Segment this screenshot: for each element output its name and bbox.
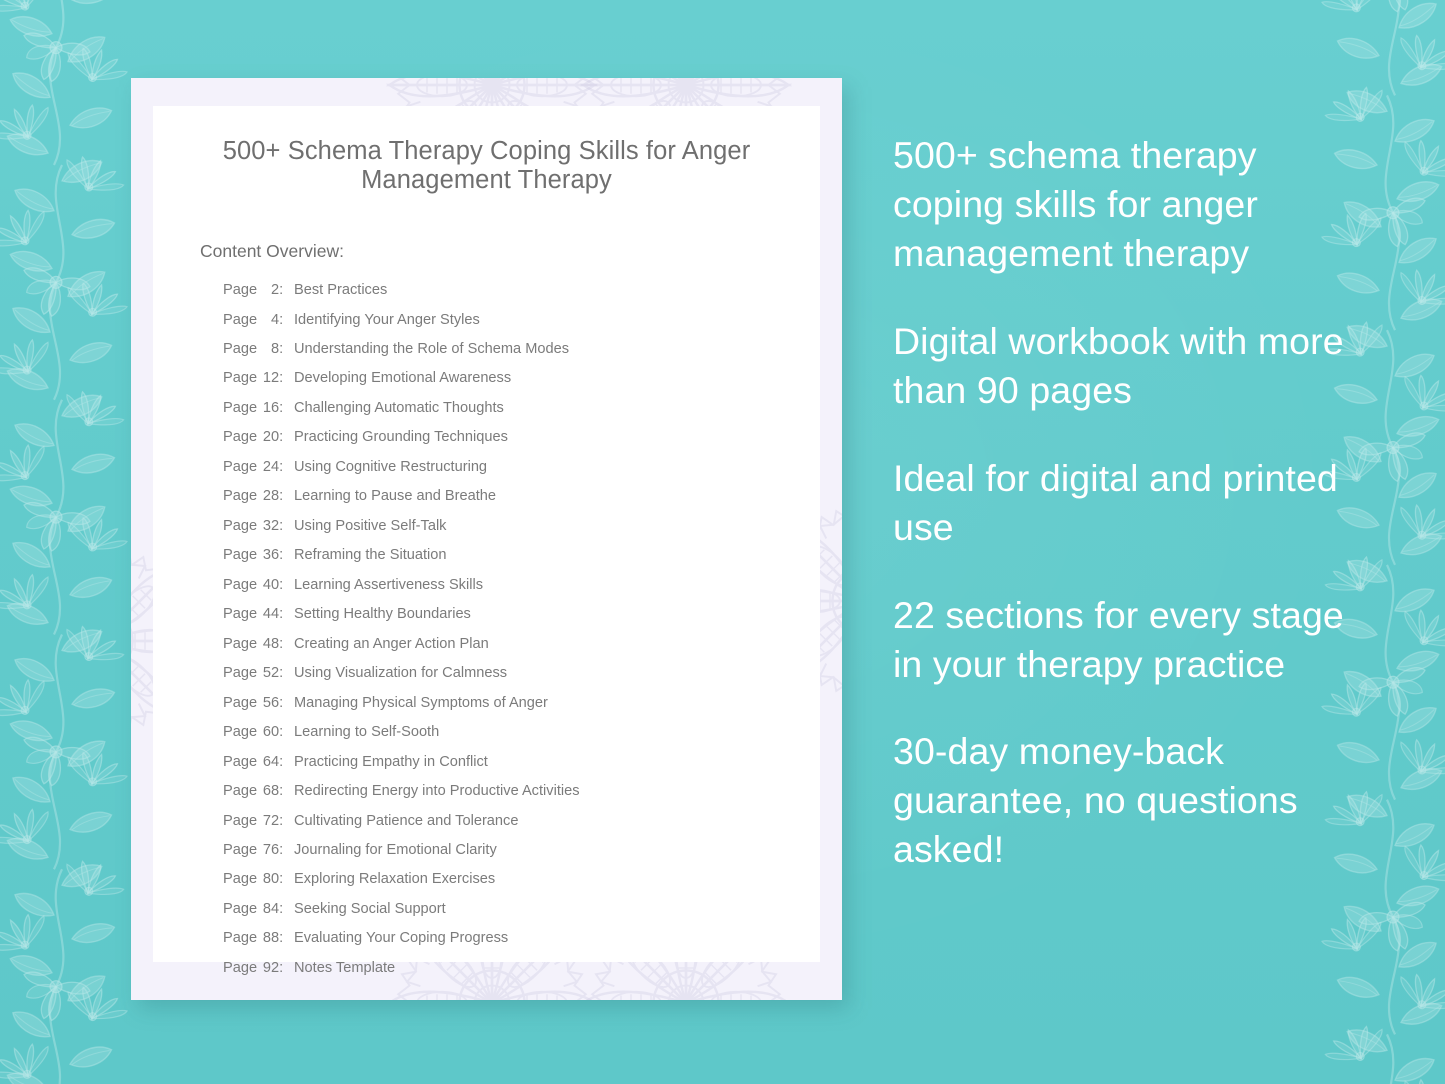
toc-page-label: Page <box>223 606 257 622</box>
promo-column: 500+ schema therapy coping skills for an… <box>893 131 1345 874</box>
toc-page-value: 56: <box>261 696 283 711</box>
toc-page-value: 68: <box>261 784 283 799</box>
toc-entry-title: Learning to Pause and Breathe <box>289 489 496 504</box>
toc-page-label: Page <box>223 665 257 681</box>
toc-page-label: Page <box>223 341 257 357</box>
toc-page-number: Page 36: <box>223 548 289 563</box>
toc-row: Page 40:Learning Assertiveness Skills <box>223 570 820 599</box>
toc-page-value: 32: <box>261 519 283 534</box>
toc-page-number: Page 20: <box>223 430 289 445</box>
toc-entry-title: Reframing the Situation <box>289 548 447 563</box>
toc-page-label: Page <box>223 577 257 593</box>
toc-page-value: 64: <box>261 755 283 770</box>
page-title: 500+ Schema Therapy Coping Skills for An… <box>213 137 760 196</box>
toc-page-label: Page <box>223 813 257 829</box>
toc-entry-title: Using Visualization for Calmness <box>289 666 507 681</box>
toc-entry-title: Identifying Your Anger Styles <box>289 313 480 328</box>
toc-page-number: Page 44: <box>223 607 289 622</box>
toc-row: Page 28:Learning to Pause and Breathe <box>223 482 820 511</box>
toc-page-number: Page 16: <box>223 401 289 416</box>
toc-page-number: Page 52: <box>223 666 289 681</box>
toc-page-number: Page 12: <box>223 371 289 386</box>
toc-entry-title: Evaluating Your Coping Progress <box>289 931 508 946</box>
toc-row: Page 92:Notes Template <box>223 953 820 982</box>
toc-page-label: Page <box>223 960 257 976</box>
toc-page-label: Page <box>223 783 257 799</box>
toc-entry-title: Learning to Self-Sooth <box>289 725 439 740</box>
toc-row: Page 64:Practicing Empathy in Conflict <box>223 747 820 776</box>
toc-page-value: 4: <box>261 313 283 328</box>
cover-sheet: 500+ Schema Therapy Coping Skills for An… <box>153 106 820 962</box>
toc-row: Page 24:Using Cognitive Restructuring <box>223 452 820 481</box>
toc-page-label: Page <box>223 724 257 740</box>
toc-page-label: Page <box>223 282 257 298</box>
toc-page-value: 2: <box>261 283 283 298</box>
toc-page-value: 24: <box>261 460 283 475</box>
toc-entry-title: Cultivating Patience and Tolerance <box>289 814 518 829</box>
toc-page-value: 52: <box>261 666 283 681</box>
toc-row: Page 68:Redirecting Energy into Producti… <box>223 777 820 806</box>
toc-row: Page 48:Creating an Anger Action Plan <box>223 629 820 658</box>
toc-entry-title: Notes Template <box>289 961 395 976</box>
toc-page-label: Page <box>223 312 257 328</box>
toc-page-label: Page <box>223 488 257 504</box>
toc-row: Page 4:Identifying Your Anger Styles <box>223 305 820 334</box>
toc-entry-title: Practicing Grounding Techniques <box>289 430 508 445</box>
toc-entry-title: Managing Physical Symptoms of Anger <box>289 696 548 711</box>
toc-entry-title: Using Cognitive Restructuring <box>289 460 487 475</box>
toc-row: Page 2:Best Practices <box>223 276 820 305</box>
toc-page-value: 72: <box>261 814 283 829</box>
toc-page-number: Page 8: <box>223 342 289 357</box>
toc-row: Page 72:Cultivating Patience and Toleran… <box>223 806 820 835</box>
toc-entry-title: Journaling for Emotional Clarity <box>289 843 497 858</box>
toc-page-number: Page 32: <box>223 519 289 534</box>
toc-page-value: 80: <box>261 872 283 887</box>
toc-page-label: Page <box>223 400 257 416</box>
toc-row: Page 20:Practicing Grounding Techniques <box>223 423 820 452</box>
toc-page-number: Page 56: <box>223 696 289 711</box>
toc-page-label: Page <box>223 754 257 770</box>
toc-row: Page 56:Managing Physical Symptoms of An… <box>223 688 820 717</box>
toc-page-number: Page 28: <box>223 489 289 504</box>
toc-page-label: Page <box>223 636 257 652</box>
toc-page-value: 44: <box>261 607 283 622</box>
toc-page-number: Page 40: <box>223 578 289 593</box>
toc-entry-title: Understanding the Role of Schema Modes <box>289 342 569 357</box>
toc-page-number: Page 60: <box>223 725 289 740</box>
toc-row: Page 80:Exploring Relaxation Exercises <box>223 865 820 894</box>
toc-page-value: 88: <box>261 931 283 946</box>
toc-entry-title: Developing Emotional Awareness <box>289 371 511 386</box>
table-of-contents: Page 2:Best PracticesPage 4:Identifying … <box>223 276 820 983</box>
toc-page-label: Page <box>223 547 257 563</box>
toc-row: Page 16:Challenging Automatic Thoughts <box>223 394 820 423</box>
toc-row: Page 76:Journaling for Emotional Clarity <box>223 836 820 865</box>
toc-page-label: Page <box>223 901 257 917</box>
toc-page-number: Page 2: <box>223 283 289 298</box>
toc-entry-title: Exploring Relaxation Exercises <box>289 872 495 887</box>
promo-line: 22 sections for every stage in your ther… <box>893 591 1345 689</box>
toc-page-label: Page <box>223 842 257 858</box>
toc-page-value: 84: <box>261 902 283 917</box>
toc-page-value: 36: <box>261 548 283 563</box>
toc-page-value: 60: <box>261 725 283 740</box>
toc-entry-title: Best Practices <box>289 283 387 298</box>
toc-page-value: 8: <box>261 342 283 357</box>
toc-page-value: 28: <box>261 489 283 504</box>
toc-page-number: Page 72: <box>223 814 289 829</box>
toc-page-label: Page <box>223 370 257 386</box>
toc-row: Page 84:Seeking Social Support <box>223 894 820 923</box>
toc-row: Page 52:Using Visualization for Calmness <box>223 659 820 688</box>
toc-entry-title: Practicing Empathy in Conflict <box>289 755 488 770</box>
toc-entry-title: Using Positive Self-Talk <box>289 519 446 534</box>
toc-page-value: 92: <box>261 961 283 976</box>
toc-row: Page 88:Evaluating Your Coping Progress <box>223 924 820 953</box>
floral-vine-left <box>0 0 142 1084</box>
promo-line: 30-day money-back guarantee, no question… <box>893 727 1345 874</box>
toc-page-label: Page <box>223 695 257 711</box>
toc-row: Page 8:Understanding the Role of Schema … <box>223 335 820 364</box>
promo-line: Digital workbook with more than 90 pages <box>893 317 1345 415</box>
toc-page-number: Page 64: <box>223 755 289 770</box>
toc-page-number: Page 48: <box>223 637 289 652</box>
toc-page-value: 16: <box>261 401 283 416</box>
toc-page-number: Page 92: <box>223 961 289 976</box>
toc-page-value: 48: <box>261 637 283 652</box>
toc-page-label: Page <box>223 429 257 445</box>
toc-page-value: 12: <box>261 371 283 386</box>
toc-page-label: Page <box>223 518 257 534</box>
toc-row: Page 12:Developing Emotional Awareness <box>223 364 820 393</box>
toc-page-value: 76: <box>261 843 283 858</box>
toc-entry-title: Learning Assertiveness Skills <box>289 578 483 593</box>
toc-page-number: Page 24: <box>223 460 289 475</box>
toc-page-number: Page 84: <box>223 902 289 917</box>
toc-page-value: 20: <box>261 430 283 445</box>
toc-entry-title: Setting Healthy Boundaries <box>289 607 471 622</box>
workbook-cover-card: 500+ Schema Therapy Coping Skills for An… <box>131 78 842 1000</box>
toc-entry-title: Creating an Anger Action Plan <box>289 637 489 652</box>
promo-line: Ideal for digital and printed use <box>893 454 1345 552</box>
toc-entry-title: Challenging Automatic Thoughts <box>289 401 504 416</box>
toc-page-number: Page 76: <box>223 843 289 858</box>
toc-page-label: Page <box>223 871 257 887</box>
promo-line: 500+ schema therapy coping skills for an… <box>893 131 1345 278</box>
toc-page-number: Page 4: <box>223 313 289 328</box>
toc-row: Page 60:Learning to Self-Sooth <box>223 718 820 747</box>
toc-page-number: Page 80: <box>223 872 289 887</box>
toc-entry-title: Redirecting Energy into Productive Activ… <box>289 784 580 799</box>
toc-row: Page 36:Reframing the Situation <box>223 541 820 570</box>
toc-page-number: Page 68: <box>223 784 289 799</box>
toc-row: Page 32:Using Positive Self-Talk <box>223 511 820 540</box>
toc-page-number: Page 88: <box>223 931 289 946</box>
toc-entry-title: Seeking Social Support <box>289 902 446 917</box>
toc-row: Page 44:Setting Healthy Boundaries <box>223 600 820 629</box>
toc-page-label: Page <box>223 930 257 946</box>
content-overview-label: Content Overview: <box>200 241 820 262</box>
toc-page-value: 40: <box>261 578 283 593</box>
toc-page-label: Page <box>223 459 257 475</box>
